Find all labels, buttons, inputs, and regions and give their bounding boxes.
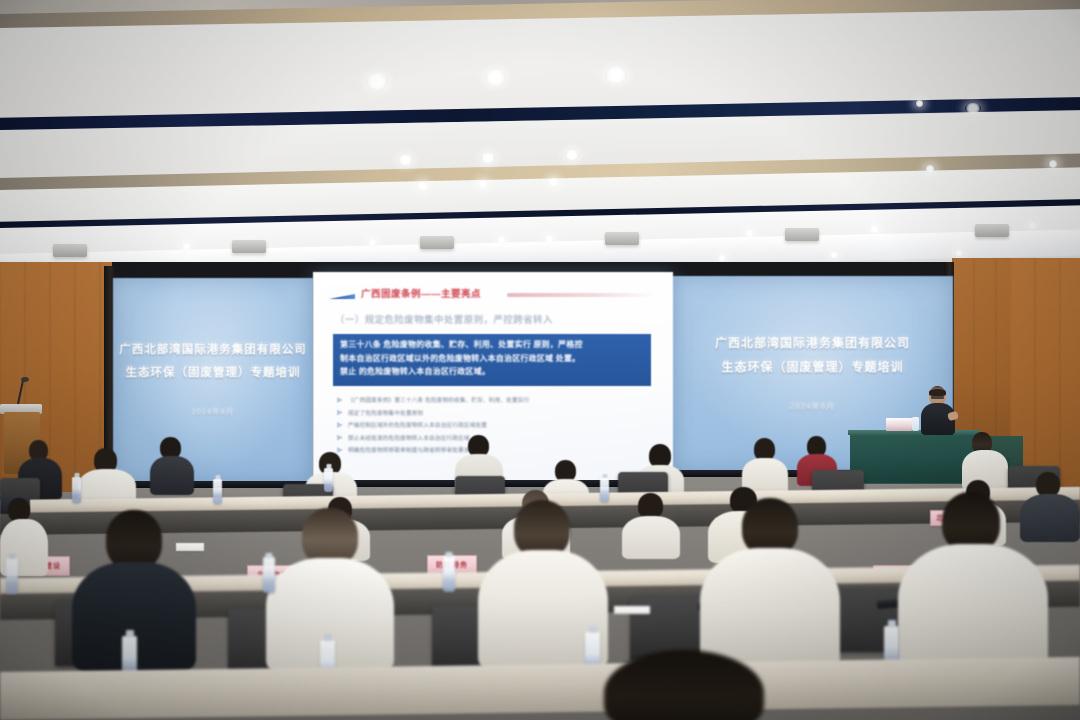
list-item: 严格控制区域外的危险废物转入本自治区行政区域处置 [337, 421, 659, 429]
water-bottle [72, 477, 81, 503]
bullet-text: 规定了危险废物集中处置原则 [348, 409, 423, 417]
slide-box-line-2: 制本自治区行政区域以外的危险废物转入本自治区行政区域 处置。 [340, 353, 644, 365]
slide-header-text: 广西固废条例——主要亮点 [361, 286, 481, 300]
right-screen-date: 2024年8月 [672, 401, 953, 412]
slide-highlight-box: 第三十八条 危险废物的收集、贮存、利用、处置实行 原则，严格控 制本自治区行政区… [333, 334, 651, 386]
tissue-box [886, 418, 912, 431]
attendee-front-row [700, 498, 840, 674]
presenter-hand [947, 411, 959, 421]
left-screen-title-line2: 生态环保（固废管理）专题培训 [113, 364, 313, 380]
bullet-text: 《广西固废条例》第三十八条 危险废物的收集、贮存、利用、处置实行 [348, 396, 529, 404]
water-bottle [443, 556, 455, 592]
right-screen-title-line1: 广西北部湾国际港务集团有限公司 [672, 334, 953, 351]
ceiling-light-fixture [53, 244, 87, 257]
ceiling-downlight [548, 178, 559, 186]
attendee-torso [622, 516, 680, 559]
ceiling-downlight [605, 67, 627, 83]
bottle-cap [74, 473, 79, 477]
ceiling-downlight [478, 180, 488, 188]
bottle-cap [602, 474, 607, 478]
slide-subtitle: （一）规定危险废物集中处置原则，严控跨省转入 [335, 312, 553, 326]
ceiling-smoke-detector-icon [965, 103, 981, 114]
attendee-mid-row [622, 493, 680, 559]
left-side-screen: 广西北部湾国际港务集团有限公司 生态环保（固废管理）专题培训 2024年8月 [113, 278, 313, 483]
left-screen-title-line1: 广西北部湾国际港务集团有限公司 [113, 341, 313, 357]
ceiling-downlight [545, 235, 554, 242]
bottle-cap [324, 634, 332, 641]
presenter-hair [929, 389, 946, 396]
ceiling-downlight [1028, 222, 1037, 229]
ceiling-downlight [497, 236, 506, 243]
ceiling-downlight [366, 73, 388, 89]
ceiling-downlight [182, 243, 191, 250]
stage-desk [850, 432, 978, 484]
attendee-head [106, 510, 162, 570]
bullet-text: 严格控制区域外的危险废物转入本自治区行政区域处置 [348, 421, 487, 429]
bottle-cap [888, 620, 896, 627]
ceiling-downlight [398, 155, 413, 165]
ceiling-light-fixture [605, 232, 639, 245]
slide-header-accent-left [329, 294, 355, 299]
attendee-back-row [150, 437, 194, 495]
bottle-cap [9, 554, 16, 559]
ceiling-downlight [565, 150, 579, 160]
presenter [918, 386, 958, 440]
ceiling-downlight [481, 153, 495, 163]
water-bottle [324, 468, 333, 492]
water-bottle [213, 479, 222, 504]
bottle-cap [266, 553, 273, 558]
ceiling-downlight [925, 165, 935, 173]
ceiling-downlight [830, 252, 838, 258]
wall-panel-wood-center-right [952, 258, 1012, 458]
ceiling-light-fixture [975, 224, 1009, 237]
ceiling-downlight [745, 230, 754, 237]
microphone-icon [21, 377, 29, 382]
ceiling-downlight [870, 226, 879, 233]
bullet-text: 明确危险废物转移联单制度与跨省转移审批要求 [348, 446, 470, 454]
ceiling-downlight [1048, 160, 1058, 168]
slide-header-accent-right [507, 293, 659, 297]
presenter-water-bottle [912, 417, 919, 431]
ceiling-light-fixture [785, 228, 819, 241]
right-screen-title-line2: 生态环保（固废管理）专题培训 [672, 358, 953, 375]
list-item: 《广西固废条例》第三十八条 危险废物的收集、贮存、利用、处置实行 [337, 396, 659, 404]
bottle-cap [326, 464, 331, 468]
water-bottle [600, 478, 609, 502]
bullet-text: 禁止未经批准的危险废物转入本自治区行政区域 [348, 434, 470, 442]
ceiling-light-fixture [420, 236, 454, 249]
attendee-head [942, 492, 1000, 552]
water-bottle [6, 558, 18, 594]
ceiling-downlight [368, 239, 377, 246]
ceiling-downlight [915, 100, 924, 107]
conference-room-photo: 广西北部湾国际港务集团有限公司 生态环保（固废管理）专题培训 2024年8月 广… [0, 0, 1080, 720]
ceiling-downlight [417, 182, 428, 190]
slide-header: 广西固废条例——主要亮点 [329, 286, 661, 304]
paper-document [614, 606, 650, 614]
attendee-torso [898, 544, 1048, 674]
bullet-marker-icon [337, 422, 343, 428]
ceiling-light-fixture [232, 240, 266, 253]
bullet-marker-icon [337, 435, 343, 441]
left-screen-date: 2024年8月 [113, 406, 313, 417]
bottle-cap [446, 552, 453, 557]
attendee-front-row [898, 492, 1048, 674]
bottle-cap [215, 475, 220, 479]
ceiling-downlight [485, 70, 506, 85]
attendee-torso [150, 456, 194, 495]
slide-box-line-3: 禁止 的危险废物转入本自治区行政区域。 [340, 366, 644, 378]
ceiling-downlight [718, 255, 726, 261]
bottle-cap [589, 626, 597, 633]
water-bottle [263, 557, 275, 593]
ceiling [0, 0, 1080, 300]
slide-box-line-1: 第三十八条 危险废物的收集、贮存、利用、处置实行 原则，严格控 [340, 339, 644, 351]
bullet-marker-icon [337, 410, 343, 416]
ceiling-downlight [955, 250, 963, 256]
bullet-marker-icon [337, 397, 343, 403]
glasses-icon [931, 396, 944, 399]
bottle-cap [126, 630, 134, 637]
list-item: 规定了危险废物集中处置原则 [337, 409, 659, 417]
